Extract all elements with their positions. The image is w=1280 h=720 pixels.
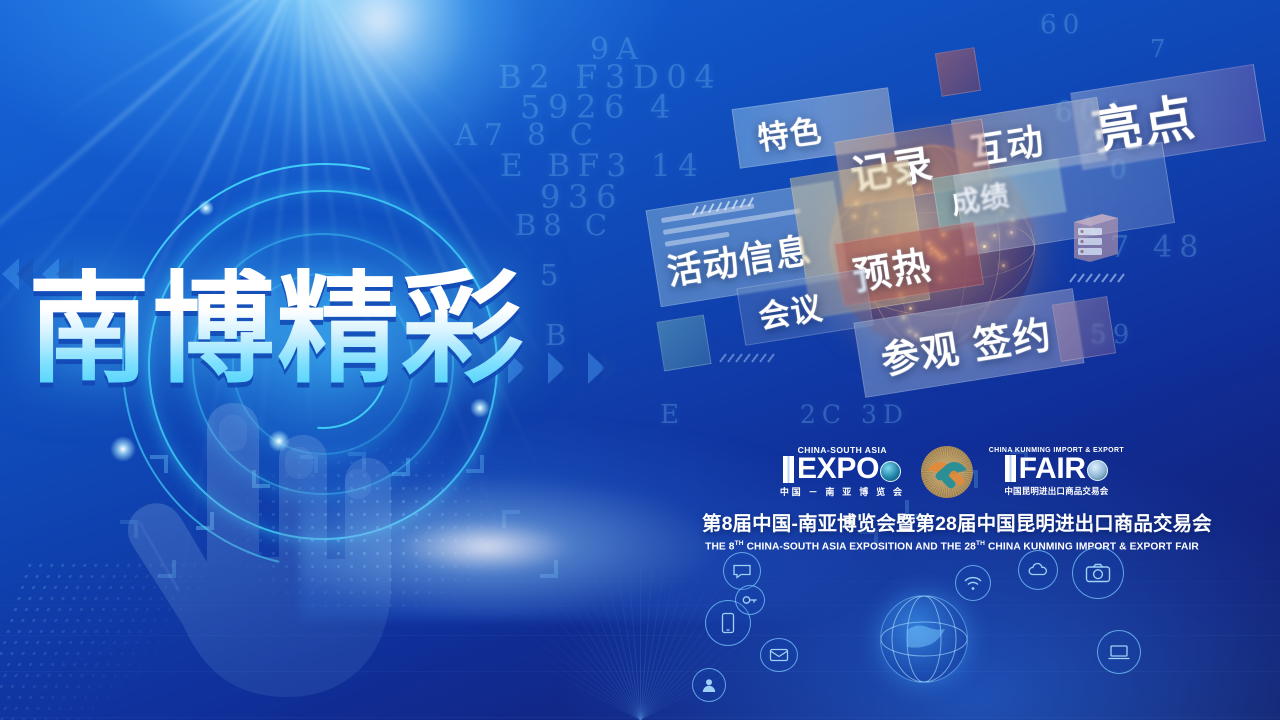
server-icon bbox=[1068, 208, 1122, 266]
fair-logo-bar bbox=[1005, 455, 1016, 482]
page-title: 南博精彩 bbox=[28, 268, 526, 390]
cloud-node-icon bbox=[1018, 550, 1058, 590]
expo-logo-word: EXPO bbox=[783, 455, 901, 484]
card-label: 特色 bbox=[754, 105, 824, 159]
card-pane-lowerright bbox=[1052, 296, 1116, 362]
expo-logo-text: EXPO bbox=[797, 455, 879, 484]
laptop-node-icon bbox=[1097, 630, 1141, 674]
message-node-icon bbox=[723, 552, 761, 590]
event-title-en-sup1: TH bbox=[735, 540, 744, 547]
expo-logo: CHINA-SOUTH ASIA EXPO 中国 － 南 亚 博 览 会 bbox=[780, 446, 905, 499]
wifi-node-icon bbox=[955, 565, 991, 601]
card-pane-topsmall bbox=[935, 47, 981, 97]
key-node-icon bbox=[735, 585, 765, 615]
poster-canvas: 9AB2 F3D045926 4A7 8 CE BF3 14936B8 C5A7… bbox=[0, 0, 1280, 720]
card-pane-leftsmall bbox=[656, 315, 711, 372]
grid-line-horizontal bbox=[0, 635, 1280, 636]
event-title-cn: 第8届中国-南亚博览会暨第28届中国昆明进出口商品交易会 bbox=[702, 507, 1202, 536]
mail-node-icon bbox=[760, 638, 798, 672]
globe-icon bbox=[1087, 460, 1108, 481]
event-title-en-p3: CHINA KUNMING IMPORT & EXPORT FAIR bbox=[985, 541, 1199, 552]
event-title-en-sup2: TH bbox=[976, 540, 985, 547]
event-title-en-p1: THE 8 bbox=[705, 541, 734, 552]
fair-logo-text: FAIR bbox=[1019, 455, 1086, 484]
fair-logo-subcn: 中国昆明进出口商品交易会 bbox=[1004, 485, 1108, 497]
grid-line-horizontal bbox=[0, 671, 1280, 672]
handshake-icon bbox=[921, 446, 973, 498]
globe-node-icon bbox=[880, 595, 968, 683]
event-title-en: THE 8TH CHINA-SOUTH ASIA EXPOSITION AND … bbox=[702, 540, 1202, 552]
fair-logo: CHINA KUNMING IMPORT & EXPORT FAIR 中国昆明进… bbox=[989, 447, 1124, 497]
camera-node-icon bbox=[1072, 547, 1124, 599]
stripe-mark-left bbox=[718, 352, 780, 364]
stripe-mark-right bbox=[1068, 272, 1130, 284]
event-lockup: CHINA-SOUTH ASIA EXPO 中国 － 南 亚 博 览 会 bbox=[702, 444, 1202, 552]
grid-line-vertical bbox=[493, 625, 641, 720]
fair-logo-word: FAIR bbox=[1005, 455, 1108, 484]
grid-line-horizontal bbox=[0, 717, 1280, 718]
expo-logo-bar bbox=[783, 456, 794, 483]
globe-icon bbox=[880, 461, 901, 482]
expo-logo-subcn: 中国 － 南 亚 博 览 会 bbox=[780, 485, 905, 498]
event-title-en-p2: CHINA-SOUTH ASIA EXPOSITION AND THE 28 bbox=[744, 541, 976, 552]
logo-row: CHINA-SOUTH ASIA EXPO 中国 － 南 亚 博 览 会 bbox=[702, 444, 1202, 500]
user-node-icon bbox=[692, 668, 726, 702]
